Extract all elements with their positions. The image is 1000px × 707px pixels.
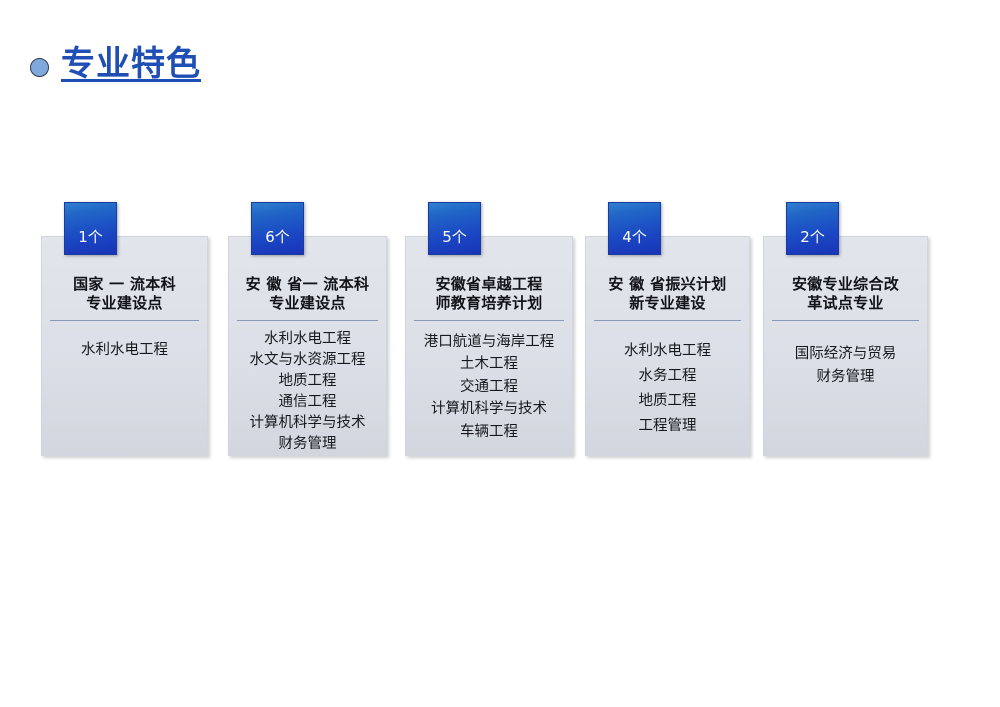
list-item: 水文与水资源工程	[233, 350, 382, 371]
list-item: 财务管理	[768, 366, 923, 389]
list-item: 交通工程	[410, 376, 568, 398]
card-count-badge: 6个	[251, 202, 304, 255]
card-title: 安 徽 省振兴计划 新专业建设	[592, 275, 743, 313]
card-item-list: 水利水电工程	[46, 339, 203, 361]
list-item: 水利水电工程	[46, 339, 203, 361]
card-title-line: 国家 一 流本科	[48, 275, 201, 294]
card-title-line: 新专业建设	[592, 294, 743, 313]
list-item: 计算机科学与技术	[410, 398, 568, 420]
card-title-line: 安 徽 省振兴计划	[592, 275, 743, 294]
card-title: 国家 一 流本科 专业建设点	[48, 275, 201, 313]
card-divider	[50, 320, 199, 321]
list-item: 水务工程	[590, 364, 745, 389]
card-item-list: 水利水电工程 水文与水资源工程 地质工程 通信工程 计算机科学与技术 财务管理	[233, 329, 382, 455]
card-title-line: 师教育培养计划	[412, 294, 566, 313]
card-count-badge: 4个	[608, 202, 661, 255]
list-item: 地质工程	[590, 389, 745, 414]
card-title: 安徽专业综合改 革试点专业	[770, 275, 921, 313]
card-title-line: 安徽专业综合改	[770, 275, 921, 294]
list-item: 财务管理	[233, 434, 382, 455]
list-item: 水利水电工程	[590, 339, 745, 364]
list-item: 车辆工程	[410, 421, 568, 443]
card-count-badge: 5个	[428, 202, 481, 255]
card-title-line: 专业建设点	[235, 294, 380, 313]
list-item: 工程管理	[590, 414, 745, 439]
circle-bullet-icon	[30, 58, 49, 77]
card-title-line: 革试点专业	[770, 294, 921, 313]
page-title: 专业特色	[30, 46, 201, 83]
feature-card[interactable]: 5个 安徽省卓越工程 师教育培养计划 港口航道与海岸工程 土木工程 交通工程 计…	[405, 236, 573, 456]
card-title-line: 安 徽 省一 流本科	[235, 275, 380, 294]
feature-card[interactable]: 6个 安 徽 省一 流本科 专业建设点 水利水电工程 水文与水资源工程 地质工程…	[228, 236, 387, 456]
card-title-line: 安徽省卓越工程	[412, 275, 566, 294]
list-item: 水利水电工程	[233, 329, 382, 350]
feature-card-list: 1个 国家 一 流本科 专业建设点 水利水电工程 6个 安 徽 省一 流本科 专…	[41, 236, 941, 458]
list-item: 通信工程	[233, 392, 382, 413]
card-count-badge: 2个	[786, 202, 839, 255]
card-count-badge: 1个	[64, 202, 117, 255]
card-divider	[237, 320, 378, 321]
feature-card[interactable]: 1个 国家 一 流本科 专业建设点 水利水电工程	[41, 236, 208, 456]
list-item: 土木工程	[410, 353, 568, 375]
card-item-list: 水利水电工程 水务工程 地质工程 工程管理	[590, 339, 745, 439]
card-item-list: 港口航道与海岸工程 土木工程 交通工程 计算机科学与技术 车辆工程	[410, 331, 568, 443]
list-item: 国际经济与贸易	[768, 343, 923, 366]
card-title: 安徽省卓越工程 师教育培养计划	[412, 275, 566, 313]
list-item: 计算机科学与技术	[233, 413, 382, 434]
list-item: 地质工程	[233, 371, 382, 392]
card-divider	[772, 320, 919, 321]
feature-card[interactable]: 2个 安徽专业综合改 革试点专业 国际经济与贸易 财务管理	[763, 236, 928, 456]
card-title: 安 徽 省一 流本科 专业建设点	[235, 275, 380, 313]
feature-card[interactable]: 4个 安 徽 省振兴计划 新专业建设 水利水电工程 水务工程 地质工程 工程管理	[585, 236, 750, 456]
list-item: 港口航道与海岸工程	[410, 331, 568, 353]
card-item-list: 国际经济与贸易 财务管理	[768, 343, 923, 389]
page-title-text: 专业特色	[61, 46, 201, 83]
card-divider	[594, 320, 741, 321]
card-divider	[414, 320, 564, 321]
card-title-line: 专业建设点	[48, 294, 201, 313]
